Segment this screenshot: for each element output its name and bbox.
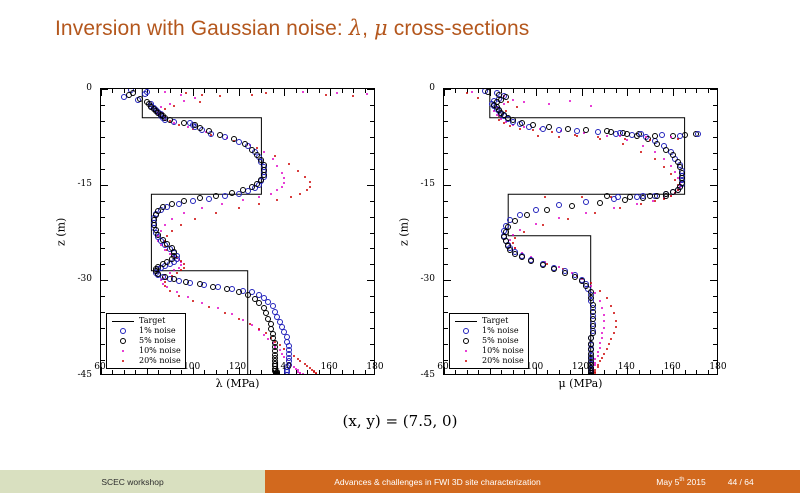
data-point — [615, 326, 617, 328]
legend-item: 10% noise — [110, 346, 181, 356]
data-point — [466, 92, 468, 94]
data-point — [512, 251, 518, 257]
legend-line-glyph — [112, 321, 134, 322]
y-tick — [444, 280, 451, 281]
data-point — [654, 141, 660, 147]
data-point — [142, 91, 148, 97]
data-point — [597, 366, 599, 368]
y-tick-right — [370, 312, 374, 313]
x-tick-label: 120 — [229, 362, 246, 372]
data-point — [231, 313, 233, 315]
data-point — [581, 196, 583, 198]
data-point — [272, 158, 274, 160]
data-point — [160, 106, 162, 108]
data-point — [249, 323, 251, 325]
x-tick — [353, 370, 354, 374]
x-tick-label: 180 — [709, 362, 726, 372]
y-tick-label: -30 — [64, 274, 92, 284]
data-point — [642, 145, 644, 147]
x-tick-top — [639, 89, 640, 93]
data-point — [634, 194, 640, 200]
legend-dot-glyph — [122, 350, 124, 352]
y-tick — [101, 280, 108, 281]
legend-item: 5% noise — [453, 336, 524, 346]
data-point — [590, 282, 592, 284]
data-point — [242, 199, 244, 201]
data-point — [210, 284, 216, 290]
chart-legend: Target1% noise5% noise10% noise20% noise — [449, 313, 529, 369]
legend-line-icon — [453, 321, 479, 322]
data-point — [258, 328, 260, 330]
x-tick — [650, 370, 651, 374]
data-point — [270, 193, 272, 195]
y-tick — [444, 328, 448, 329]
data-point — [281, 172, 283, 174]
data-point — [597, 355, 599, 357]
y-tick-right — [713, 312, 717, 313]
data-point — [201, 302, 203, 304]
y-tick-right — [713, 217, 717, 218]
legend-dot-icon — [110, 360, 136, 362]
y-tick-right — [713, 169, 717, 170]
legend-item: 1% noise — [453, 326, 524, 336]
data-point — [183, 267, 185, 269]
x-tick-top — [204, 89, 205, 93]
footer-date-year: 2015 — [684, 477, 705, 487]
data-point — [652, 133, 658, 139]
data-point — [169, 290, 171, 292]
x-tick — [513, 370, 514, 374]
y-tick — [101, 233, 105, 234]
data-point — [567, 218, 569, 220]
y-tick — [101, 344, 105, 345]
legend-label: 5% noise — [136, 336, 176, 346]
data-point — [546, 124, 552, 130]
data-point — [654, 158, 656, 160]
y-tick-right — [367, 185, 374, 186]
y-tick — [444, 248, 448, 249]
legend-label: Target — [136, 316, 165, 326]
y-tick-right — [370, 153, 374, 154]
x-tick — [170, 370, 171, 374]
data-point — [171, 230, 173, 232]
x-tick-top — [181, 89, 182, 93]
data-point — [336, 92, 338, 94]
data-point — [281, 186, 283, 188]
data-point — [659, 132, 665, 138]
data-point — [276, 199, 278, 201]
x-tick-label: 120 — [572, 362, 589, 372]
data-point — [519, 229, 521, 231]
legend-line-icon — [110, 321, 136, 322]
data-point — [276, 165, 278, 167]
data-point — [242, 319, 244, 321]
legend-label: 1% noise — [479, 326, 519, 336]
data-point — [533, 207, 539, 213]
y-tick-right — [370, 328, 374, 329]
data-point — [601, 307, 603, 309]
data-point — [251, 94, 253, 96]
legend-item: 20% noise — [110, 356, 181, 366]
data-point — [306, 365, 308, 367]
legend-item: Target — [453, 316, 524, 326]
data-point — [546, 263, 548, 265]
legend-item: 20% noise — [453, 356, 524, 366]
data-point — [162, 274, 168, 280]
data-point — [540, 262, 546, 268]
data-point — [258, 203, 260, 205]
data-point — [640, 203, 642, 205]
data-point — [603, 320, 605, 322]
data-point — [265, 332, 267, 334]
data-point — [503, 103, 505, 105]
data-point — [654, 200, 656, 202]
data-point — [164, 281, 166, 283]
y-axis-title: z (m) — [397, 88, 411, 375]
data-point — [583, 127, 589, 133]
data-point — [206, 128, 212, 134]
y-tick-right — [370, 105, 374, 106]
data-point — [677, 138, 679, 140]
data-point — [613, 312, 615, 314]
data-point — [208, 306, 210, 308]
y-tick — [444, 264, 448, 265]
y-tick-right — [713, 360, 717, 361]
legend-dot-glyph — [465, 350, 467, 352]
y-tick — [101, 328, 105, 329]
legend-label: 1% noise — [136, 326, 176, 336]
x-tick-top — [342, 89, 343, 93]
data-point — [572, 274, 578, 280]
data-point — [514, 237, 516, 239]
data-point — [613, 207, 615, 209]
legend-circle-glyph — [120, 328, 126, 334]
data-point — [283, 177, 285, 179]
data-point — [544, 207, 550, 213]
x-tick-top — [319, 89, 320, 93]
y-tick-right — [710, 280, 717, 281]
x-tick-top — [524, 89, 525, 93]
data-point — [137, 96, 143, 102]
y-tick-right — [713, 248, 717, 249]
y-tick — [444, 217, 448, 218]
data-point — [615, 194, 621, 200]
data-point — [288, 163, 290, 165]
data-point — [190, 198, 196, 204]
data-point — [181, 198, 187, 204]
x-tick-label: 140 — [275, 362, 292, 372]
data-point — [160, 230, 162, 232]
data-point — [471, 91, 473, 93]
data-point — [197, 195, 203, 201]
footer-event: SCEC workshop — [0, 470, 265, 493]
y-tick — [101, 153, 105, 154]
y-tick-right — [370, 344, 374, 345]
x-tick-label: 180 — [366, 362, 383, 372]
data-point — [183, 279, 189, 285]
data-point — [279, 349, 281, 351]
data-point — [670, 195, 672, 197]
x-tick — [616, 370, 617, 374]
y-tick — [101, 89, 108, 90]
data-point — [180, 224, 182, 226]
data-point — [206, 196, 212, 202]
data-point — [636, 203, 638, 205]
data-point — [126, 92, 132, 98]
data-point — [551, 266, 557, 272]
data-point — [576, 135, 578, 137]
legend-label: 10% noise — [479, 346, 524, 356]
x-tick — [261, 370, 262, 374]
data-point — [219, 95, 221, 97]
data-point — [325, 94, 327, 96]
y-tick-right — [713, 137, 717, 138]
data-point — [512, 242, 514, 244]
data-point — [180, 264, 182, 266]
x-tick-top — [478, 89, 479, 93]
y-tick — [444, 201, 448, 202]
data-point — [178, 295, 180, 297]
data-point — [649, 139, 651, 141]
y-tick-right — [367, 89, 374, 90]
data-point — [229, 190, 235, 196]
data-point — [599, 360, 601, 362]
data-point — [558, 136, 560, 138]
data-point — [245, 292, 251, 298]
legend-label: 20% noise — [136, 356, 181, 366]
legend-circle-glyph — [463, 328, 469, 334]
x-tick — [365, 370, 366, 374]
x-tick — [124, 370, 125, 374]
y-tick — [444, 105, 448, 106]
data-point — [523, 126, 525, 128]
data-point — [558, 217, 560, 219]
legend-item: 10% noise — [453, 346, 524, 356]
y-tick-right — [713, 201, 717, 202]
data-point — [599, 290, 601, 292]
data-point — [306, 189, 308, 191]
data-point — [603, 353, 605, 355]
x-tick-label: 140 — [618, 362, 635, 372]
data-point — [519, 120, 525, 126]
y-tick — [444, 153, 448, 154]
legend-dot-icon — [453, 360, 479, 362]
data-point — [537, 135, 539, 137]
x-tick — [307, 370, 308, 374]
y-tick-right — [713, 328, 717, 329]
data-point — [670, 165, 672, 167]
y-tick-label: -15 — [64, 179, 92, 189]
x-tick-top — [273, 89, 274, 93]
data-point — [180, 269, 182, 271]
data-point — [599, 138, 601, 140]
data-point — [171, 218, 173, 220]
data-point — [523, 231, 525, 233]
data-point — [674, 179, 676, 181]
y-tick — [101, 296, 105, 297]
data-point — [302, 91, 304, 93]
data-point — [530, 122, 536, 128]
data-point — [265, 92, 267, 94]
x-tick-top — [250, 89, 251, 93]
x-tick-top — [284, 89, 285, 96]
y-tick-right — [370, 201, 374, 202]
data-point — [516, 106, 518, 108]
data-point — [556, 202, 562, 208]
x-tick-top — [513, 89, 514, 93]
data-point — [509, 239, 511, 241]
y-tick — [101, 185, 108, 186]
data-point — [164, 108, 166, 110]
x-tick-top — [353, 89, 354, 93]
x-tick-top — [616, 89, 617, 93]
y-tick — [444, 89, 451, 90]
chart-panel-lambda: 60801001201401601800-15-30-45λ (MPa)z (m… — [60, 70, 400, 400]
data-point — [512, 99, 514, 101]
footer-date-main: May 5 — [656, 477, 679, 487]
x-tick-top — [650, 89, 651, 93]
x-axis-title: μ (MPa) — [443, 377, 718, 390]
x-tick-top — [673, 89, 674, 96]
data-point — [585, 212, 587, 214]
data-point — [176, 272, 178, 274]
data-point — [622, 143, 624, 145]
x-tick-top — [227, 89, 228, 93]
y-tick — [101, 169, 105, 170]
title-lambda-symbol: λ — [349, 16, 362, 40]
data-point — [663, 158, 665, 160]
x-tick — [547, 370, 548, 374]
data-point — [590, 105, 592, 107]
y-tick-label: -30 — [407, 274, 435, 284]
data-point — [181, 120, 187, 126]
x-tick — [467, 370, 468, 374]
data-point — [283, 182, 285, 184]
data-point — [169, 201, 175, 207]
y-tick-right — [713, 344, 717, 345]
legend-dot-glyph — [465, 360, 467, 362]
data-point — [670, 173, 672, 175]
y-tick-right — [713, 105, 717, 106]
data-point — [597, 351, 599, 353]
x-tick — [639, 370, 640, 374]
footer-bar: SCEC workshop Advances & challenges in F… — [0, 470, 800, 493]
data-point — [192, 300, 194, 302]
data-point — [224, 312, 226, 314]
x-tick — [478, 370, 479, 374]
x-tick-top — [696, 89, 697, 93]
legend-dot-icon — [453, 350, 479, 352]
y-tick — [444, 169, 448, 170]
data-point — [366, 93, 368, 95]
x-tick — [501, 370, 502, 374]
data-point — [201, 207, 203, 209]
y-tick-right — [370, 360, 374, 361]
data-point — [610, 338, 612, 340]
x-axis-title: λ (MPa) — [100, 377, 375, 390]
data-point — [594, 292, 596, 294]
x-tick-top — [547, 89, 548, 93]
data-point — [267, 338, 269, 340]
y-tick-label: 0 — [64, 83, 92, 93]
y-tick-right — [710, 89, 717, 90]
data-point — [166, 235, 168, 237]
data-point — [194, 97, 196, 99]
data-point — [594, 212, 596, 214]
legend-line-glyph — [455, 321, 477, 322]
title-text-tail: cross-sections — [388, 17, 530, 40]
x-tick-top — [158, 89, 159, 93]
data-point — [599, 300, 601, 302]
legend-label: 10% noise — [136, 346, 181, 356]
data-point — [222, 193, 228, 199]
data-point — [185, 92, 187, 94]
data-point — [599, 347, 601, 349]
legend-dot-glyph — [122, 360, 124, 362]
x-tick — [342, 370, 343, 374]
y-tick-label: -45 — [407, 370, 435, 380]
data-point — [498, 119, 500, 121]
data-point — [654, 151, 656, 153]
legend-item: 1% noise — [110, 326, 181, 336]
x-tick — [250, 370, 251, 374]
data-point — [603, 314, 605, 316]
y-tick-right — [713, 153, 717, 154]
legend-circle-glyph — [463, 338, 469, 344]
data-point — [674, 171, 676, 173]
data-point — [588, 295, 594, 301]
data-point — [599, 342, 601, 344]
x-tick-top — [604, 89, 605, 93]
y-tick-label: -45 — [64, 370, 92, 380]
data-point — [615, 320, 617, 322]
data-point — [164, 224, 166, 226]
slide-root: Inversion with Gaussian noise: λ, μ cros… — [0, 0, 800, 493]
legend-label: Target — [479, 316, 508, 326]
x-tick-label: 160 — [321, 362, 338, 372]
data-point — [595, 129, 601, 135]
data-point — [251, 324, 253, 326]
figure-caption: (x, y) = (7.5, 0) — [0, 412, 800, 430]
data-point — [169, 272, 171, 274]
data-point — [217, 307, 219, 309]
title-text-main: Inversion with Gaussian noise: — [55, 17, 349, 40]
x-tick-top — [296, 89, 297, 93]
data-point — [606, 135, 608, 137]
x-tick — [662, 370, 663, 374]
data-point — [293, 355, 295, 357]
x-tick-top — [570, 89, 571, 93]
x-tick-top — [593, 89, 594, 93]
legend-circle-icon — [453, 338, 479, 344]
x-tick-top — [582, 89, 583, 96]
data-point — [519, 128, 521, 130]
footer-date: May 5th 2015 — [656, 477, 705, 487]
y-tick-right — [370, 248, 374, 249]
data-point — [670, 189, 676, 195]
chart-panel-mu: 60801001201401601800-15-30-45μ (MPa)z (m… — [403, 70, 743, 400]
data-point — [588, 289, 594, 295]
data-point — [290, 196, 292, 198]
x-tick — [319, 370, 320, 374]
x-tick — [696, 370, 697, 374]
y-tick — [101, 201, 105, 202]
data-point — [512, 218, 518, 224]
y-tick — [444, 296, 448, 297]
title-mu-symbol: μ — [374, 16, 388, 40]
x-tick-top — [261, 89, 262, 93]
data-point — [281, 353, 283, 355]
